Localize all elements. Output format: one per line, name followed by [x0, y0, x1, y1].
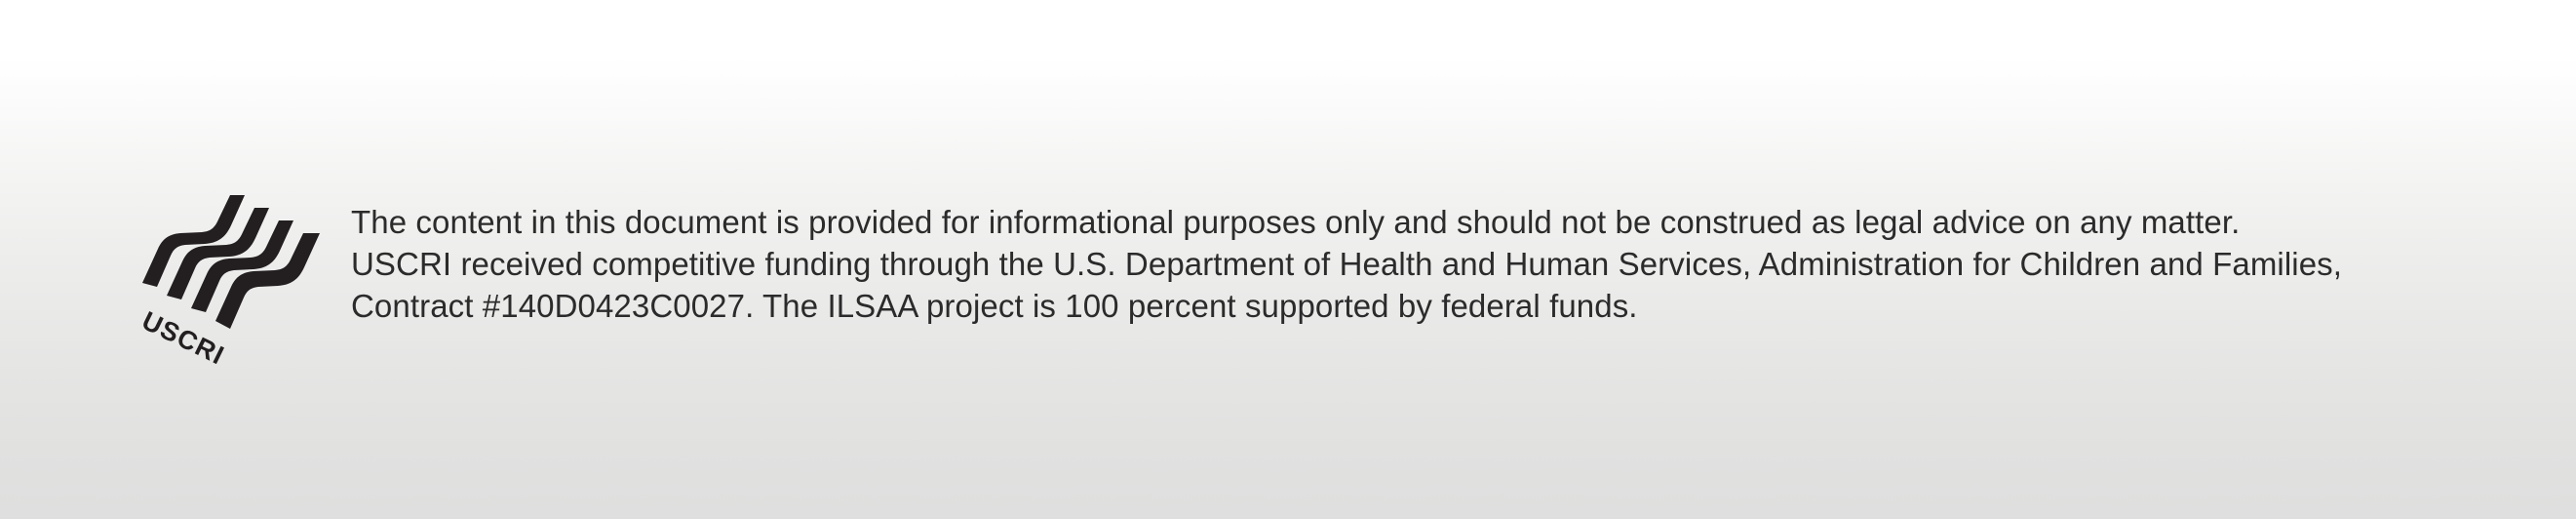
- disclaimer-line-3: Contract #140D0423C0027. The ILSAA proje…: [351, 285, 2360, 327]
- disclaimer-line-1: The content in this document is provided…: [351, 201, 2360, 243]
- disclaimer-line-2: USCRI received competitive funding throu…: [351, 243, 2360, 285]
- uscri-logo-icon: USCRI: [137, 193, 322, 349]
- disclaimer-text: The content in this document is provided…: [351, 201, 2360, 327]
- disclaimer-banner: USCRI The content in this document is pr…: [0, 0, 2576, 519]
- svg-text:USCRI: USCRI: [137, 305, 229, 370]
- uscri-wordmark: USCRI: [137, 305, 229, 370]
- footer-content: USCRI The content in this document is pr…: [0, 0, 2576, 519]
- uscri-logo: USCRI: [137, 193, 322, 349]
